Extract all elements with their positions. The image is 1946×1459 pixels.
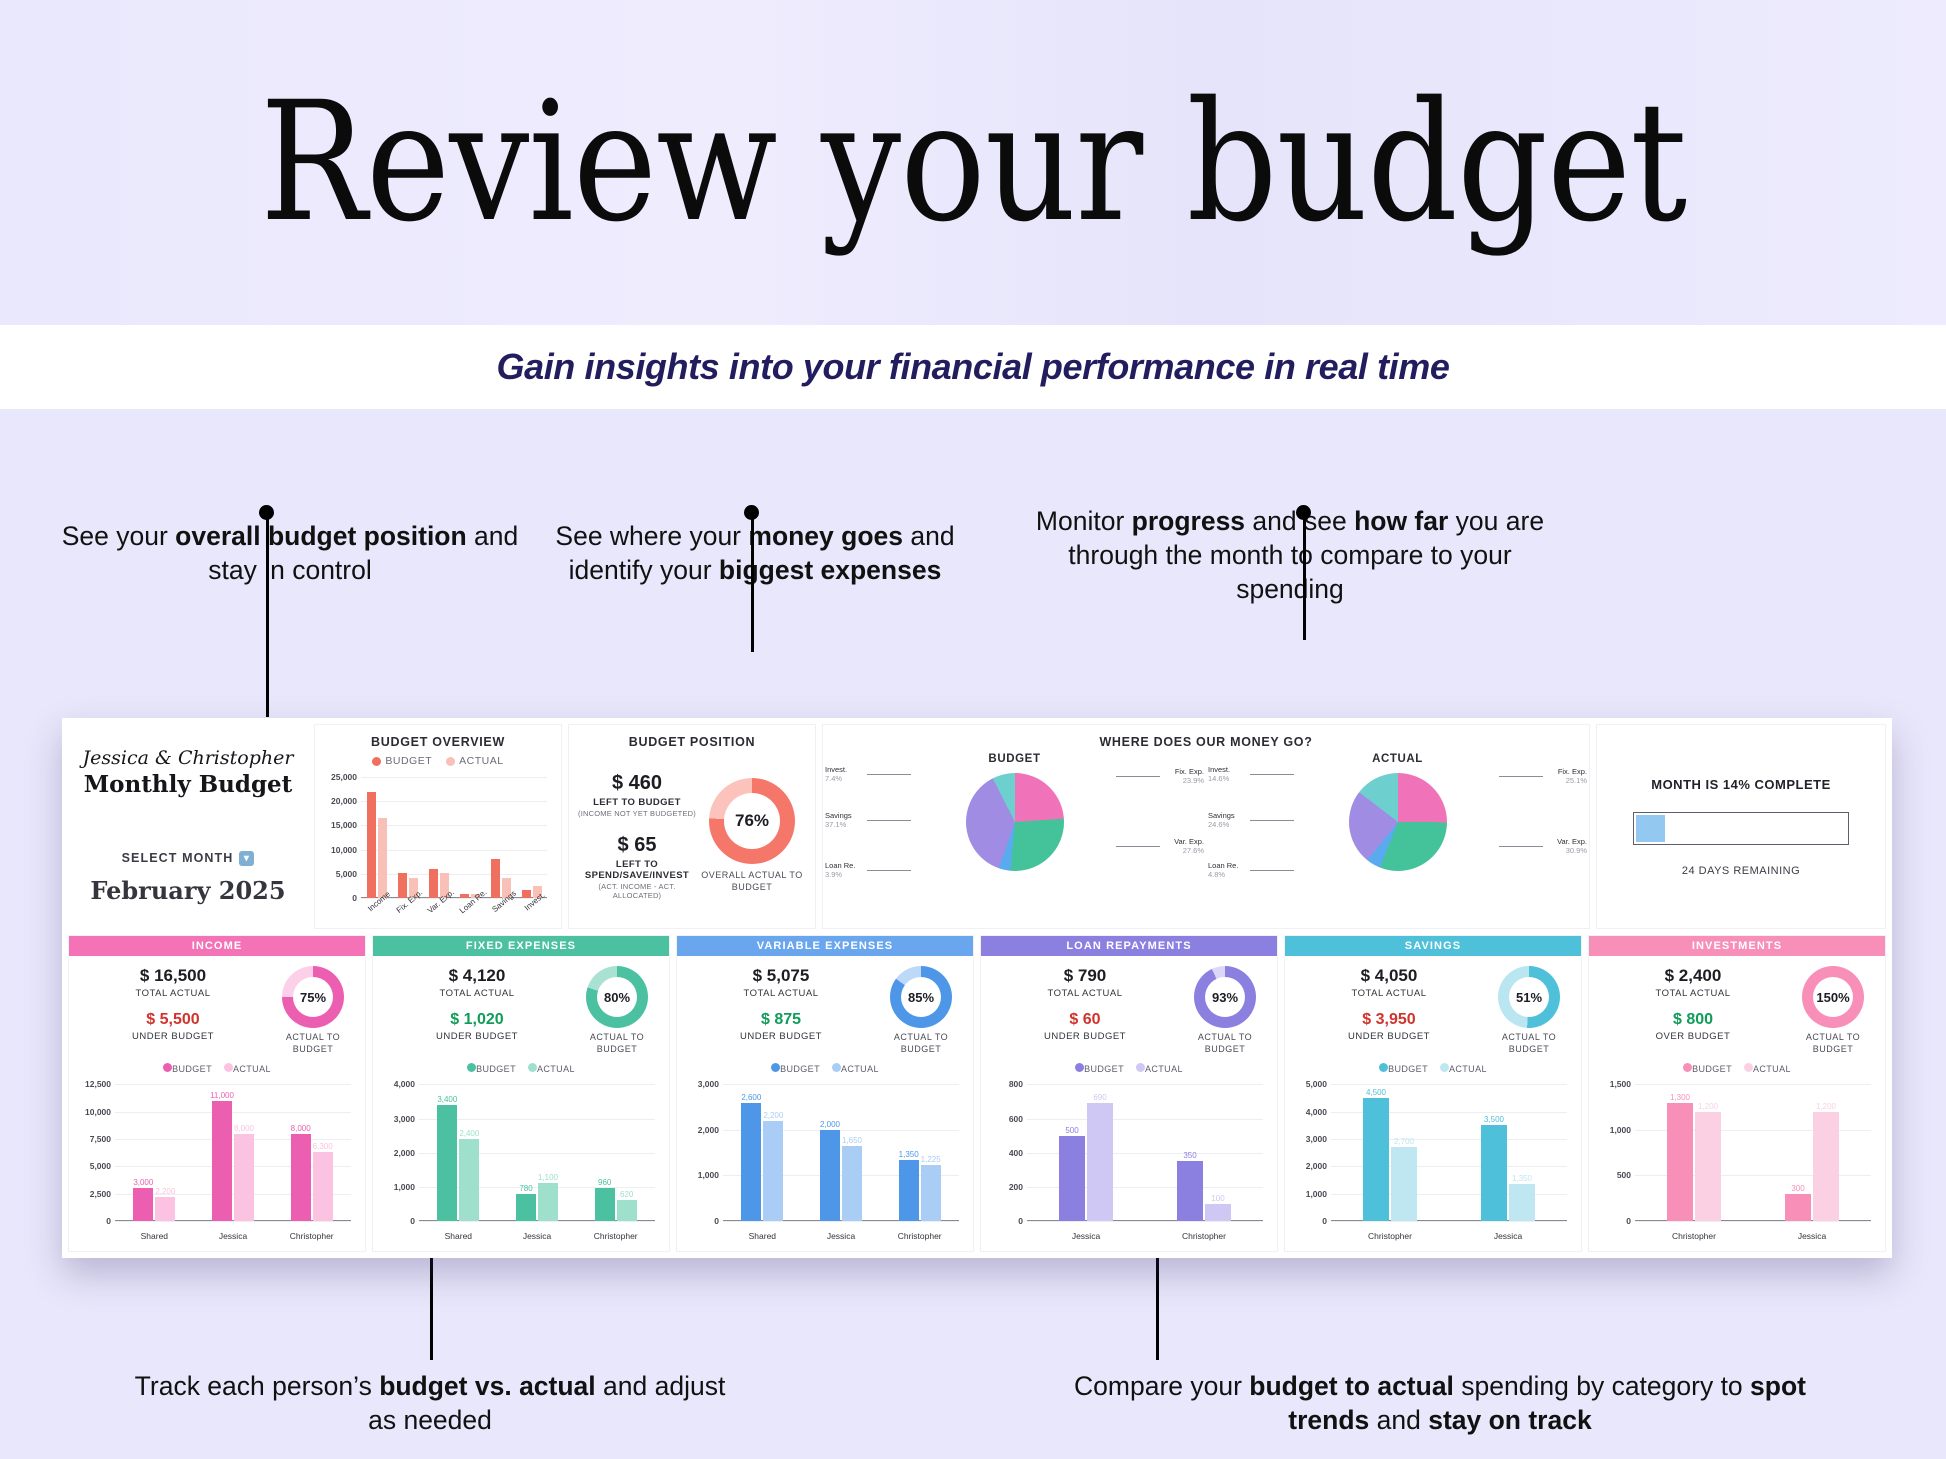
category-legend-item: BUDGET [163, 1063, 212, 1074]
bar-group: 1,3501,225 [880, 1084, 959, 1221]
legend-label: ACTUAL [233, 1064, 271, 1074]
bar-group [423, 777, 454, 898]
legend-swatch-icon [446, 757, 455, 766]
y-axis-tick: 12,500 [85, 1079, 111, 1089]
bar-value-label: 100 [1211, 1194, 1224, 1203]
y-axis-tick: 3,000 [1306, 1134, 1327, 1144]
panel-month-progress: MONTH IS 14% COMPLETE 24 DAYS REMAINING [1596, 724, 1886, 929]
subtitle-bar: Gain insights into your financial perfor… [0, 325, 1946, 409]
total-actual-amount: $ 16,500 [77, 966, 269, 986]
variance-caption: UNDER BUDGET [989, 1031, 1181, 1042]
bar-value-label: 2,700 [1394, 1137, 1414, 1146]
donut-percent: 85% [908, 990, 934, 1005]
pie-chart-title: ACTUAL [1372, 753, 1423, 765]
y-axis-tick: 10,000 [331, 845, 357, 855]
gridline [1331, 1221, 1567, 1222]
pie-label-value: 23.9% [1175, 776, 1204, 785]
budget-overview-title: BUDGET OVERVIEW [315, 725, 561, 749]
bar-value-label: 2,200 [155, 1187, 175, 1196]
legend-label: ACTUAL [1449, 1064, 1487, 1074]
overall-actual-donut: 76% [697, 778, 807, 864]
category-legend-item: BUDGET [467, 1063, 516, 1074]
bar-budget: 8,000 [291, 1134, 311, 1221]
bar-actual: 1,350 [1509, 1184, 1535, 1221]
bar-budget: 2,000 [820, 1130, 840, 1221]
bar-actual: 2,200 [763, 1121, 783, 1221]
bar-value-label: 1,350 [1512, 1174, 1532, 1183]
pie-label: Var. Exp.30.9% [1557, 837, 1587, 855]
pie-label-name: Fix. Exp. [1175, 767, 1204, 776]
category-card-variable-expenses: VARIABLE EXPENSES$ 5,075TOTAL ACTUAL$ 87… [676, 935, 974, 1252]
left-to-spend-block: $ 65 LEFT TO SPEND/SAVE/INVEST (ACT. INC… [577, 834, 697, 900]
dropdown-icon[interactable]: ▾ [239, 851, 254, 866]
select-month-text: SELECT MONTH [122, 851, 234, 865]
bar-budget: 350 [1177, 1161, 1203, 1221]
bar-value-label: 500 [1065, 1126, 1078, 1135]
bar-actual: 1,200 [1695, 1112, 1721, 1221]
y-axis-tick: 0 [1322, 1216, 1327, 1226]
bar-value-label: 3,000 [133, 1178, 153, 1187]
leader-dot-1 [259, 505, 274, 520]
pie-label: Invest.14.6% [1208, 765, 1230, 783]
bar-actual: 100 [1205, 1204, 1231, 1221]
bar-budget [522, 890, 531, 898]
pie-label-name: Invest. [1208, 765, 1230, 774]
callout-month-progress: Monitor progress and see how far you are… [1030, 505, 1550, 607]
selected-month-value[interactable]: February 2025 [90, 876, 285, 905]
y-axis-tick: 500 [1617, 1170, 1631, 1180]
variance-caption: UNDER BUDGET [381, 1031, 573, 1042]
actual-to-budget-donut: 85%ACTUAL TO BUDGET [877, 966, 965, 1055]
legend-swatch-icon [832, 1063, 841, 1072]
bar-actual: 1,100 [538, 1183, 558, 1221]
budget-subtitle: Monthly Budget [84, 771, 293, 798]
select-month-label: SELECT MONTH ▾ [122, 851, 255, 866]
y-axis-tick: 600 [1009, 1114, 1023, 1124]
x-axis-tick: Jessica [802, 1231, 881, 1241]
bar-value-label: 8,000 [234, 1124, 254, 1133]
legend-label: BUDGET [1084, 1064, 1124, 1074]
bar-budget: 1,350 [899, 1160, 919, 1221]
bar-group: 960620 [576, 1084, 655, 1221]
variance-caption: UNDER BUDGET [1293, 1031, 1485, 1042]
category-card-loan-repayments: LOAN REPAYMENTS$ 790TOTAL ACTUAL$ 60UNDE… [980, 935, 1278, 1252]
category-legend-item: ACTUAL [528, 1063, 575, 1074]
legend-label: ACTUAL [459, 755, 503, 767]
legend-label: BUDGET [476, 1064, 516, 1074]
bar-group [454, 777, 485, 898]
donut-percent: 75% [300, 990, 326, 1005]
legend-swatch-icon [1683, 1063, 1692, 1072]
pie-label-name: Var. Exp. [1174, 837, 1204, 846]
bar-value-label: 2,400 [459, 1129, 479, 1138]
budget-overview-legend-item: ACTUAL [446, 755, 503, 767]
variance-amount: $ 5,500 [77, 1011, 269, 1029]
bar-budget [367, 792, 376, 898]
dashboard-screenshot: Jessica & Christopher Monthly Budget SEL… [62, 718, 1892, 1258]
actual-to-budget-donut: 150%ACTUAL TO BUDGET [1789, 966, 1877, 1055]
category-legend-item: ACTUAL [1136, 1063, 1183, 1074]
category-card-header: VARIABLE EXPENSES [677, 936, 973, 956]
variance-block: $ 800OVER BUDGET [1597, 1011, 1789, 1042]
y-axis-tick: 5,000 [1306, 1079, 1327, 1089]
pie-label: Fix. Exp.23.9% [1175, 767, 1204, 785]
pie-label-name: Invest. [825, 765, 847, 774]
variance-block: $ 875UNDER BUDGET [685, 1011, 877, 1042]
pie-label-name: Loan Re. [825, 861, 855, 870]
pie-label-name: Fix. Exp. [1558, 767, 1587, 776]
total-actual-caption: TOTAL ACTUAL [381, 988, 573, 999]
bar-budget [429, 869, 438, 898]
household-title-card: Jessica & Christopher Monthly Budget [68, 724, 308, 820]
left-to-spend-amount: $ 65 [577, 834, 697, 857]
pie-leader-line [867, 870, 911, 871]
budget-position-title: BUDGET POSITION [569, 725, 815, 749]
x-axis-tick: Shared [419, 1231, 498, 1241]
bar-actual: 1,200 [1813, 1112, 1839, 1221]
category-bar-chart: 0200400600800500690350100JessicaChristop… [991, 1080, 1267, 1247]
total-actual-block: $ 4,120TOTAL ACTUAL [381, 966, 573, 999]
legend-label: ACTUAL [841, 1064, 879, 1074]
legend-swatch-icon [372, 757, 381, 766]
y-axis-tick: 0 [1626, 1216, 1631, 1226]
left-to-budget-note: (INCOME NOT YET BUDGETED) [577, 809, 697, 818]
bar-budget: 1,300 [1667, 1103, 1693, 1221]
category-bar-chart: 01,0002,0003,0004,0005,0004,5002,7003,50… [1295, 1080, 1571, 1247]
bar-value-label: 2,200 [763, 1111, 783, 1120]
bar-budget: 3,000 [133, 1188, 153, 1221]
category-card-header: SAVINGS [1285, 936, 1581, 956]
category-bar-chart: 01,0002,0003,0002,6002,2002,0001,6501,35… [687, 1080, 963, 1247]
legend-swatch-icon [771, 1063, 780, 1072]
gridline [115, 1221, 351, 1222]
category-legend-item: ACTUAL [1744, 1063, 1791, 1074]
pie-label-name: Savings [1208, 811, 1235, 820]
bar-actual: 1,650 [842, 1146, 862, 1221]
y-axis-tick: 4,000 [1306, 1107, 1327, 1117]
days-remaining-note: 24 DAYS REMAINING [1682, 865, 1800, 877]
variance-caption: UNDER BUDGET [685, 1031, 877, 1042]
left-to-spend-caption: LEFT TO SPEND/SAVE/INVEST [577, 859, 697, 881]
leader-line-3 [1303, 512, 1306, 640]
x-axis-tick: Christopher [1145, 1231, 1263, 1241]
leader-line-2 [751, 512, 754, 652]
y-axis-tick: 1,000 [1306, 1189, 1327, 1199]
x-axis-tick: Jessica [1449, 1231, 1567, 1241]
bar-budget: 3,400 [437, 1105, 457, 1221]
y-axis-tick: 2,000 [1306, 1161, 1327, 1171]
legend-swatch-icon [1744, 1063, 1753, 1072]
variance-block: $ 1,020UNDER BUDGET [381, 1011, 573, 1042]
bar-group [516, 777, 547, 898]
y-axis-tick: 0 [352, 893, 357, 903]
actual-to-budget-donut: 51%ACTUAL TO BUDGET [1485, 966, 1573, 1055]
category-card-header: FIXED EXPENSES [373, 936, 669, 956]
pie-label-name: Loan Re. [1208, 861, 1238, 870]
bar-group: 4,5002,700 [1331, 1084, 1449, 1221]
bar-value-label: 780 [519, 1184, 532, 1193]
category-bar-chart: 01,0002,0003,0004,0003,4002,4007801,1009… [383, 1080, 659, 1247]
y-axis-tick: 5,000 [90, 1161, 111, 1171]
bar-actual: 2,700 [1391, 1147, 1417, 1221]
bar-group: 3,0002,200 [115, 1084, 194, 1221]
bar-group: 3001,200 [1753, 1084, 1871, 1221]
legend-swatch-icon [528, 1063, 537, 1072]
y-axis-tick: 7,500 [90, 1134, 111, 1144]
pie-label: Loan Re.3.9% [825, 861, 855, 879]
y-axis-tick: 2,000 [394, 1148, 415, 1158]
actual-to-budget-caption: ACTUAL TO BUDGET [1181, 1032, 1269, 1055]
x-axis-tick: Christopher [576, 1231, 655, 1241]
y-axis-tick: 0 [410, 1216, 415, 1226]
y-axis-tick: 0 [106, 1216, 111, 1226]
pie-chart-title: BUDGET [988, 753, 1040, 765]
bar-group: 1,3001,200 [1635, 1084, 1753, 1221]
total-actual-caption: TOTAL ACTUAL [685, 988, 877, 999]
total-actual-amount: $ 4,120 [381, 966, 573, 986]
donut-percent: 80% [604, 990, 630, 1005]
pie-leader-line [1116, 846, 1160, 847]
category-legend: BUDGETACTUAL [981, 1063, 1277, 1074]
legend-label: BUDGET [780, 1064, 820, 1074]
bar-value-label: 1,100 [538, 1173, 558, 1182]
bar-actual: 690 [1087, 1103, 1113, 1221]
total-actual-caption: TOTAL ACTUAL [77, 988, 269, 999]
pie-label-value: 7.4% [825, 774, 847, 783]
bar-value-label: 11,000 [210, 1091, 234, 1100]
callout-money-goes: See where your money goes and identify y… [520, 520, 990, 588]
category-legend: BUDGETACTUAL [677, 1063, 973, 1074]
y-axis-tick: 0 [1018, 1216, 1023, 1226]
category-legend-item: BUDGET [1075, 1063, 1124, 1074]
bar-actual: 2,400 [459, 1139, 479, 1221]
variance-block: $ 60UNDER BUDGET [989, 1011, 1181, 1042]
category-legend-item: ACTUAL [832, 1063, 879, 1074]
category-legend-item: BUDGET [771, 1063, 820, 1074]
total-actual-amount: $ 2,400 [1597, 966, 1789, 986]
legend-label: BUDGET [172, 1064, 212, 1074]
variance-block: $ 5,500UNDER BUDGET [77, 1011, 269, 1042]
leader-dot-3 [1296, 505, 1311, 520]
y-axis-tick: 400 [1009, 1148, 1023, 1158]
bar-budget: 4,500 [1363, 1098, 1389, 1221]
overall-actual-donut-caption: OVERALL ACTUAL TO BUDGET [697, 870, 807, 893]
bar-group: 2,6002,200 [723, 1084, 802, 1221]
gridline [723, 1221, 959, 1222]
actual-to-budget-donut: 80%ACTUAL TO BUDGET [573, 966, 661, 1055]
category-legend: BUDGETACTUAL [1589, 1063, 1885, 1074]
pie-label: Savings37.1% [825, 811, 852, 829]
pie-label: Fix. Exp.25.1% [1558, 767, 1587, 785]
pie-label: Loan Re.4.8% [1208, 861, 1238, 879]
month-progress-title: MONTH IS 14% COMPLETE [1651, 777, 1831, 792]
bar-value-label: 6,300 [313, 1142, 333, 1151]
pie-label-value: 4.8% [1208, 870, 1238, 879]
x-axis-tick: Jessica [194, 1231, 273, 1241]
pie-leader-line [867, 774, 911, 775]
bar-value-label: 3,500 [1484, 1115, 1504, 1124]
y-axis-tick: 2,000 [698, 1125, 719, 1135]
actual-to-budget-caption: ACTUAL TO BUDGET [1485, 1032, 1573, 1055]
category-legend: BUDGETACTUAL [1285, 1063, 1581, 1074]
pie-label-value: 24.6% [1208, 820, 1235, 829]
y-axis-tick: 20,000 [331, 796, 357, 806]
x-axis-tick: Christopher [272, 1231, 351, 1241]
bar-value-label: 1,300 [1670, 1093, 1690, 1102]
x-axis-tick: Shared [115, 1231, 194, 1241]
category-legend: BUDGETACTUAL [69, 1063, 365, 1074]
bar-actual: 620 [617, 1200, 637, 1221]
bar-value-label: 620 [620, 1190, 633, 1199]
total-actual-caption: TOTAL ACTUAL [1597, 988, 1789, 999]
month-selector-card[interactable]: SELECT MONTH ▾ February 2025 [68, 826, 308, 929]
actual-to-budget-caption: ACTUAL TO BUDGET [877, 1032, 965, 1055]
bar-value-label: 2,000 [820, 1120, 840, 1129]
pie-label-name: Var. Exp. [1557, 837, 1587, 846]
pie-slices [966, 773, 1064, 871]
bar-value-label: 2,600 [741, 1093, 761, 1102]
bar-budget: 780 [516, 1194, 536, 1221]
pie-leader-line [867, 820, 911, 821]
pie-leader-line [1250, 820, 1294, 821]
hero-banner: Review your budget [0, 0, 1946, 325]
bar-group: 500690 [1027, 1084, 1145, 1221]
y-axis-tick: 15,000 [331, 820, 357, 830]
actual-to-budget-caption: ACTUAL TO BUDGET [269, 1032, 357, 1055]
donut-percent: 93% [1212, 990, 1238, 1005]
y-axis-tick: 1,000 [698, 1170, 719, 1180]
panel-budget-title: Jessica & Christopher Monthly Budget SEL… [68, 724, 308, 929]
pie-label-value: 30.9% [1557, 846, 1587, 855]
gridline [1635, 1221, 1871, 1222]
category-card-savings: SAVINGS$ 4,050TOTAL ACTUAL$ 3,950UNDER B… [1284, 935, 1582, 1252]
pie-label-value: 37.1% [825, 820, 852, 829]
legend-label: BUDGET [1388, 1064, 1428, 1074]
leader-dot-2 [744, 505, 759, 520]
bar-budget: 500 [1059, 1136, 1085, 1221]
x-axis-tick: Jessica [1753, 1231, 1871, 1241]
callout-overall-position: See your overall budget position and sta… [60, 520, 520, 588]
pie-label: Invest.7.4% [825, 765, 847, 783]
y-axis-tick: 0 [714, 1216, 719, 1226]
actual-to-budget-caption: ACTUAL TO BUDGET [1789, 1032, 1877, 1055]
x-axis-tick: Jessica [1027, 1231, 1145, 1241]
actual-to-budget-donut: 75%ACTUAL TO BUDGET [269, 966, 357, 1055]
legend-swatch-icon [1440, 1063, 1449, 1072]
callout-person-tracking: Track each person’s budget vs. actual an… [120, 1370, 740, 1438]
pie-label: Var. Exp.27.6% [1174, 837, 1204, 855]
bar-value-label: 1,650 [842, 1136, 862, 1145]
total-actual-caption: TOTAL ACTUAL [1293, 988, 1485, 999]
category-legend-item: BUDGET [1379, 1063, 1428, 1074]
legend-label: BUDGET [385, 755, 432, 767]
left-to-budget-caption: LEFT TO BUDGET [577, 797, 697, 808]
leader-line-1 [266, 512, 269, 717]
bar-budget [491, 859, 500, 898]
pie-label-value: 27.6% [1174, 846, 1204, 855]
bar-group: 11,0008,000 [194, 1084, 273, 1221]
total-actual-block: $ 790TOTAL ACTUAL [989, 966, 1181, 999]
bar-group [392, 777, 423, 898]
left-to-budget-amount: $ 460 [577, 772, 697, 795]
bar-actual: 6,300 [313, 1152, 333, 1221]
bar-value-label: 4,500 [1366, 1088, 1386, 1097]
bar-group [361, 777, 392, 898]
bar-actual: 1,225 [921, 1165, 941, 1221]
actual-to-budget-donut: 93%ACTUAL TO BUDGET [1181, 966, 1269, 1055]
y-axis-tick: 10,000 [85, 1107, 111, 1117]
bar-value-label: 1,350 [899, 1150, 919, 1159]
x-axis-tick: Jessica [498, 1231, 577, 1241]
total-actual-amount: $ 4,050 [1293, 966, 1485, 986]
bar-budget [398, 873, 407, 898]
pie-leader-line [1499, 846, 1543, 847]
variance-amount: $ 800 [1597, 1011, 1789, 1029]
total-actual-caption: TOTAL ACTUAL [989, 988, 1181, 999]
pie-label-value: 14.6% [1208, 774, 1230, 783]
pie-label: Savings24.6% [1208, 811, 1235, 829]
variance-amount: $ 3,950 [1293, 1011, 1485, 1029]
category-card-investments: INVESTMENTS$ 2,400TOTAL ACTUAL$ 800OVER … [1588, 935, 1886, 1252]
bar-group: 3,5001,350 [1449, 1084, 1567, 1221]
pie-leader-line [1250, 870, 1294, 871]
legend-label: ACTUAL [1753, 1064, 1791, 1074]
category-legend: BUDGETACTUAL [373, 1063, 669, 1074]
legend-swatch-icon [1075, 1063, 1084, 1072]
total-actual-amount: $ 790 [989, 966, 1181, 986]
total-actual-block: $ 4,050TOTAL ACTUAL [1293, 966, 1485, 999]
x-axis-tick: Shared [723, 1231, 802, 1241]
household-names: Jessica & Christopher [83, 747, 294, 769]
panel-budget-overview: BUDGET OVERVIEW BUDGETACTUAL 05,00010,00… [314, 724, 562, 929]
category-card-income: INCOME$ 16,500TOTAL ACTUAL$ 5,500UNDER B… [68, 935, 366, 1252]
x-axis-tick: Christopher [1331, 1231, 1449, 1241]
y-axis-tick: 1,000 [1610, 1125, 1631, 1135]
bar-actual [378, 818, 387, 898]
y-axis-tick: 3,000 [394, 1114, 415, 1124]
bar-group [485, 777, 516, 898]
legend-swatch-icon [1379, 1063, 1388, 1072]
bar-group: 350100 [1145, 1084, 1263, 1221]
total-actual-block: $ 2,400TOTAL ACTUAL [1597, 966, 1789, 999]
total-actual-block: $ 16,500TOTAL ACTUAL [77, 966, 269, 999]
left-to-spend-note: (ACT. INCOME - ACT. ALLOCATED) [577, 882, 697, 900]
y-axis-tick: 25,000 [331, 772, 357, 782]
pie-chart-actual: ACTUALFix. Exp.25.1%Var. Exp.30.9%Loan R… [1206, 749, 1589, 928]
bar-value-label: 8,000 [291, 1124, 311, 1133]
pie-label-value: 3.9% [825, 870, 855, 879]
category-bar-chart: 02,5005,0007,50010,00012,5003,0002,20011… [79, 1080, 355, 1247]
category-legend-item: BUDGET [1683, 1063, 1732, 1074]
budget-overview-chart: 05,00010,00015,00020,00025,000 IncomeFix… [325, 773, 551, 924]
x-axis-tick: Christopher [1635, 1231, 1753, 1241]
bar-group: 8,0006,300 [272, 1084, 351, 1221]
page-title: Review your budget [260, 80, 1686, 245]
pie-leader-line [1250, 774, 1294, 775]
budget-overview-legend-item: BUDGET [372, 755, 432, 767]
donut-percent: 76% [735, 811, 769, 831]
panel-money-breakdown: WHERE DOES OUR MONEY GO? BUDGETFix. Exp.… [822, 724, 1590, 929]
pie-chart-budget: BUDGETFix. Exp.23.9%Var. Exp.27.6%Loan R… [823, 749, 1206, 928]
callout-category-compare: Compare your budget to actual spending b… [1040, 1370, 1840, 1438]
pie-slices [1349, 773, 1447, 871]
bar-group: 2,0001,650 [802, 1084, 881, 1221]
bar-budget: 2,600 [741, 1103, 761, 1221]
variance-amount: $ 1,020 [381, 1011, 573, 1029]
bar-budget: 300 [1785, 1194, 1811, 1221]
bar-group: 3,4002,400 [419, 1084, 498, 1221]
total-actual-amount: $ 5,075 [685, 966, 877, 986]
